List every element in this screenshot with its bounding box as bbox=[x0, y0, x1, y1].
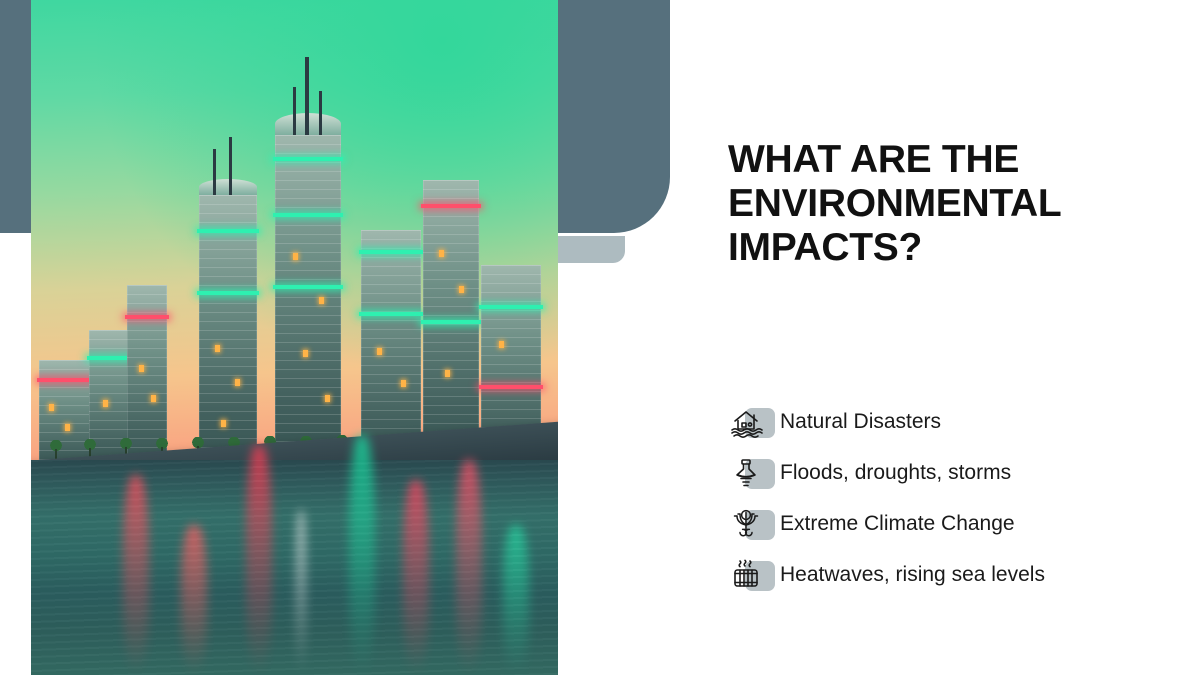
light-reflection bbox=[403, 480, 429, 675]
list-item[interactable]: Natural Disasters bbox=[728, 396, 1148, 447]
light-reflection bbox=[503, 525, 529, 675]
list-item[interactable]: Floods, droughts, storms bbox=[728, 447, 1148, 498]
list-item[interactable]: Heatwaves, rising sea levels bbox=[728, 549, 1148, 600]
light-reflection bbox=[246, 445, 272, 675]
light-reflection bbox=[123, 475, 149, 675]
left-accent-bar bbox=[0, 0, 32, 233]
page-title: WHAT ARE THE ENVIRONMENTAL IMPACTS? bbox=[728, 138, 1128, 270]
list-item[interactable]: Extreme Climate Change bbox=[728, 498, 1148, 549]
hero-image bbox=[31, 0, 558, 675]
light-reflection bbox=[349, 435, 375, 675]
list-item-label: Extreme Climate Change bbox=[780, 512, 1015, 536]
slate-rounded-panel bbox=[558, 0, 670, 233]
flooded-house-icon bbox=[728, 402, 780, 442]
landmark-tower bbox=[275, 135, 341, 480]
bullet-list: Natural Disasters Floods, droughts, stor… bbox=[728, 396, 1148, 600]
light-reflection bbox=[456, 460, 482, 675]
gray-accent-chip bbox=[549, 236, 625, 263]
list-item-label: Floods, droughts, storms bbox=[780, 461, 1011, 485]
light-reflection bbox=[181, 525, 207, 675]
radiator-heat-icon bbox=[728, 555, 780, 595]
water-surface bbox=[31, 460, 558, 675]
climate-tech-wrench-icon bbox=[728, 504, 780, 544]
list-item-label: Heatwaves, rising sea levels bbox=[780, 563, 1045, 587]
light-reflection bbox=[296, 510, 306, 675]
skyline bbox=[31, 60, 558, 480]
content-column: WHAT ARE THE ENVIRONMENTAL IMPACTS? Natu… bbox=[728, 0, 1148, 675]
tornado-flask-icon bbox=[728, 453, 780, 493]
list-item-label: Natural Disasters bbox=[780, 410, 941, 434]
